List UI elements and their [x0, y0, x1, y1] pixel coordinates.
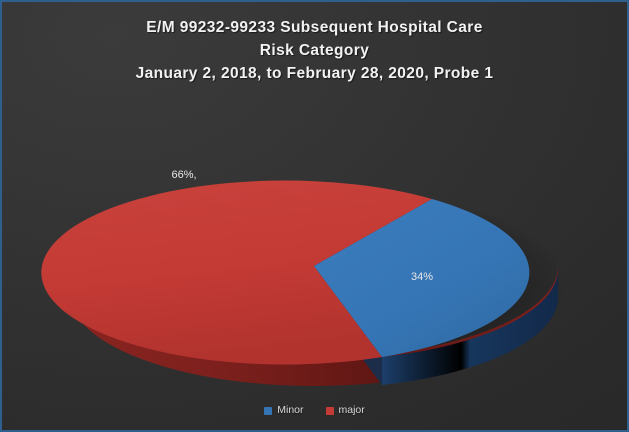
- chart-title: E/M 99232-99233 Subsequent Hospital Care…: [2, 16, 627, 85]
- slice-label-minor: 34%: [411, 271, 433, 283]
- legend-item-minor[interactable]: Minor: [264, 405, 303, 416]
- chart-container: E/M 99232-99233 Subsequent Hospital Care…: [0, 0, 629, 432]
- legend-label-major: major: [339, 405, 365, 416]
- pie-chart-svg: 66%, 34%: [2, 94, 629, 394]
- legend-swatch-minor-icon: [264, 407, 272, 415]
- legend-swatch-major-icon: [326, 407, 334, 415]
- chart-legend: Minor major: [2, 405, 627, 416]
- slice-label-major: 66%,: [171, 169, 196, 181]
- chart-title-line-3: January 2, 2018, to February 28, 2020, P…: [2, 62, 627, 85]
- pie-plot-area: 66%, 34%: [2, 94, 629, 394]
- chart-title-line-2: Risk Category: [2, 39, 627, 62]
- chart-title-line-1: E/M 99232-99233 Subsequent Hospital Care: [2, 16, 627, 39]
- legend-item-major[interactable]: major: [326, 405, 365, 416]
- legend-label-minor: Minor: [277, 405, 303, 416]
